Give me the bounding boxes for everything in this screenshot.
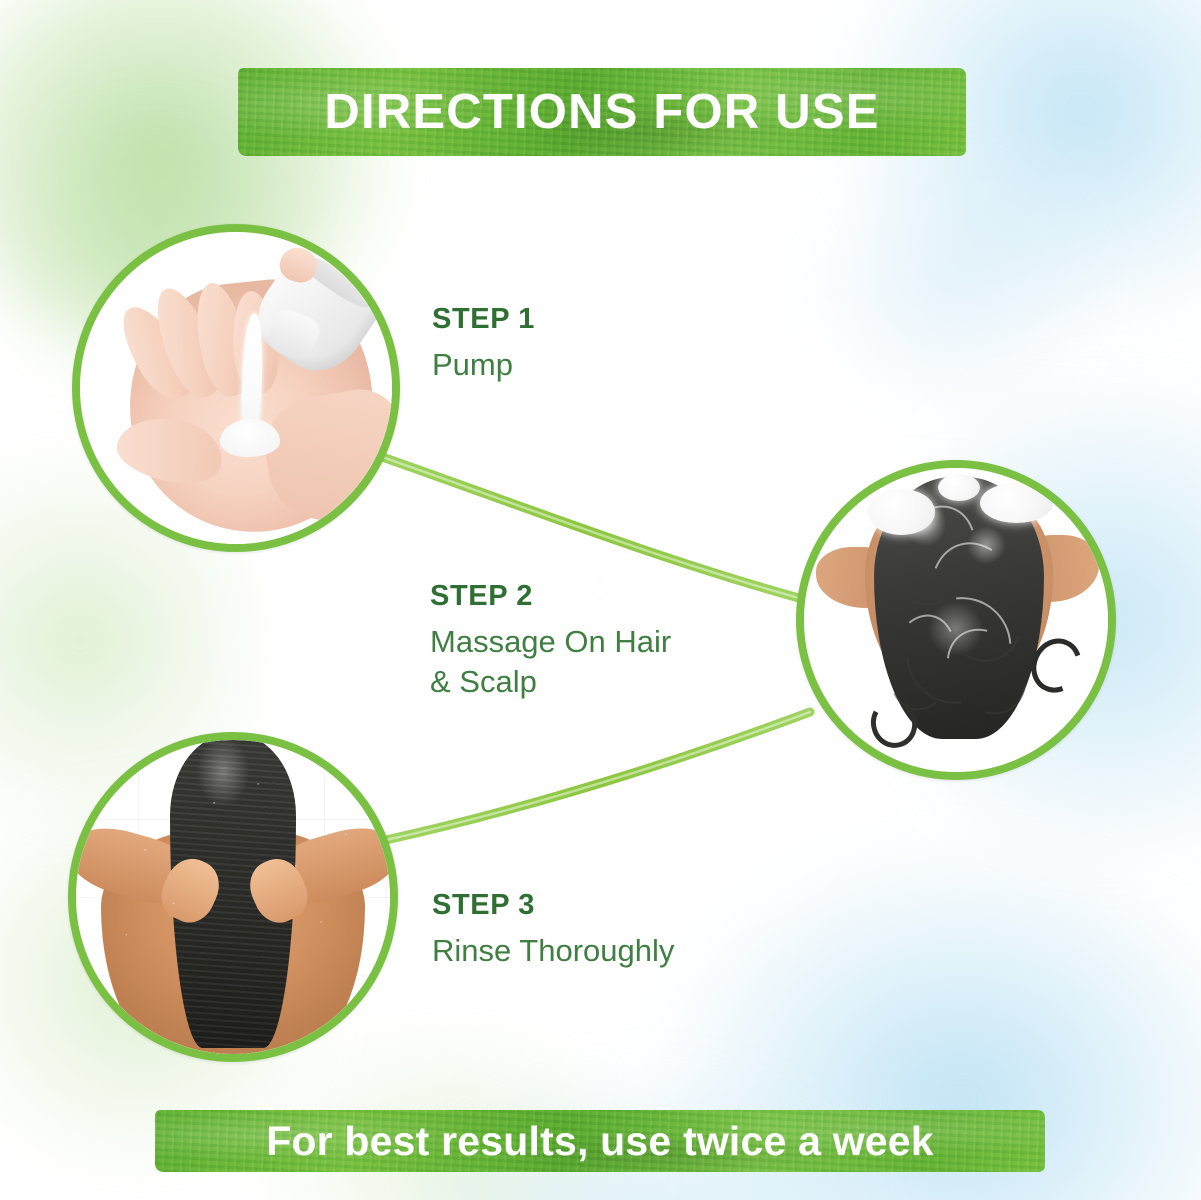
- step-2-number: STEP 2: [430, 580, 671, 613]
- step-1-image-circle: [72, 224, 400, 552]
- sudsy-hair-photo: [804, 468, 1108, 772]
- step-2-description-line-1: Massage On Hair: [430, 622, 671, 662]
- page-title: DIRECTIONS FOR USE: [324, 88, 879, 137]
- connector-step1-to-step2-highlight: [368, 452, 806, 600]
- step-1-text-block: STEP 1 Pump: [432, 303, 535, 385]
- rinsing-hair-photo: [76, 740, 390, 1054]
- footer-banner: For best results, use twice a week: [155, 1110, 1045, 1172]
- step-1-number: STEP 1: [432, 303, 535, 336]
- step-3-description: Rinse Thoroughly: [432, 931, 674, 971]
- connector-step1-to-step2: [368, 452, 806, 600]
- product-blob: [220, 419, 279, 456]
- step-2-description: Massage On Hair & Scalp: [430, 622, 671, 703]
- hand-with-pump-bottle-photo: [80, 232, 392, 544]
- footer-tip-text: For best results, use twice a week: [266, 1121, 934, 1162]
- step-3-number: STEP 3: [432, 889, 674, 922]
- header-banner: DIRECTIONS FOR USE: [238, 68, 966, 156]
- step-1-description: Pump: [432, 345, 535, 385]
- step-2-image-circle: [796, 460, 1116, 780]
- water-droplets: [76, 740, 390, 1054]
- step-2-text-block: STEP 2 Massage On Hair & Scalp: [430, 580, 671, 703]
- connector-step2-to-step3: [386, 712, 810, 840]
- step-2-description-line-2: & Scalp: [430, 662, 671, 702]
- foam-patch-2: [980, 483, 1053, 523]
- blue-wash-top-right: [771, 0, 1201, 390]
- connector-step2-to-step3-highlight: [386, 712, 810, 840]
- blue-wash-top-middle: [760, 120, 1140, 450]
- foam-patch-1: [868, 489, 935, 535]
- step-3-image-circle: [68, 732, 398, 1062]
- infographic-canvas: DIRECTIONS FOR USE: [0, 0, 1201, 1200]
- step-3-text-block: STEP 3 Rinse Thoroughly: [432, 889, 674, 971]
